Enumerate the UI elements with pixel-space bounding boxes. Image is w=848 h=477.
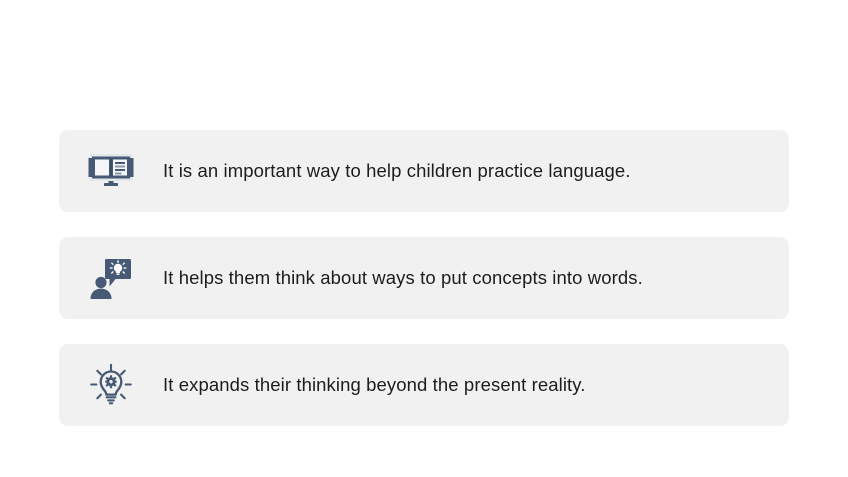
benefit-card-text: It helps them think about ways to put co… <box>163 266 643 290</box>
benefit-card-text: It expands their thinking beyond the pre… <box>163 373 586 397</box>
slide-canvas: It is an important way to help children … <box>0 0 848 477</box>
benefit-card[interactable]: It is an important way to help children … <box>59 130 789 212</box>
benefit-card-list: It is an important way to help children … <box>59 130 789 426</box>
benefit-card[interactable]: It expands their thinking beyond the pre… <box>59 344 789 426</box>
benefit-card[interactable]: It helps them think about ways to put co… <box>59 237 789 319</box>
open-book-icon <box>59 130 163 212</box>
benefit-card-text: It is an important way to help children … <box>163 159 631 183</box>
person-idea-bubble-icon <box>59 237 163 319</box>
lightbulb-gear-icon <box>59 344 163 426</box>
